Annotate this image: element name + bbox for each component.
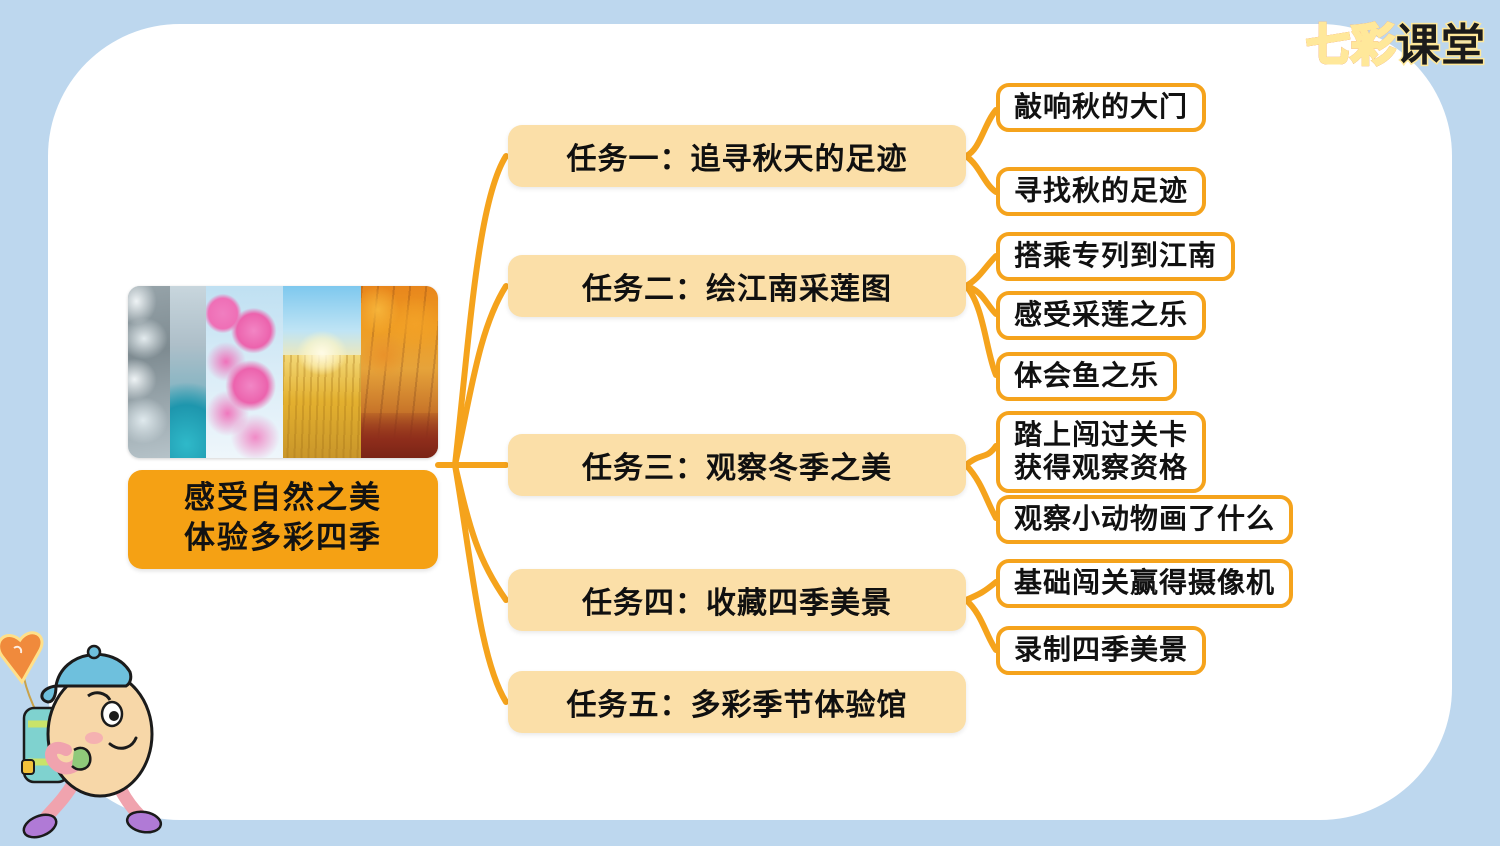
central-label-line-2: 体验多彩四季 [136, 519, 430, 559]
slide-canvas: 七彩课堂 感受自然之美 体验多彩四季 任务一：追寻秋天的足迹 任务二：绘江南采莲… [0, 0, 1500, 844]
task-node-3[interactable]: 任务三：观察冬季之美 [508, 434, 966, 496]
cap-button [88, 646, 100, 658]
season-panel-spring [206, 286, 284, 458]
task-node-4-label: 任务四：收藏四季美景 [582, 578, 892, 622]
task-node-5[interactable]: 任务五：多彩季节体验馆 [508, 671, 966, 733]
logo-text-primary: 七彩 [1306, 20, 1396, 71]
logo-text-secondary: 课堂 [1396, 20, 1486, 71]
leaf-node-3-2[interactable]: 观察小动物画了什么 [996, 495, 1293, 544]
task-node-5-label: 任务五：多彩季节体验馆 [567, 680, 908, 724]
hand [72, 748, 90, 770]
cheek-blush [85, 732, 103, 744]
leaf-node-2-3[interactable]: 体会鱼之乐 [996, 352, 1177, 401]
leaf-node-3-1-label: 踏上闯过关卡 获得观察资格 [1014, 418, 1188, 484]
leaf-node-2-2-label: 感受采莲之乐 [1014, 298, 1188, 331]
season-panel-summer [283, 286, 361, 458]
heart-balloon-icon [0, 633, 42, 682]
backpack-buckle [22, 760, 34, 774]
central-node[interactable]: 感受自然之美 体验多彩四季 [128, 286, 438, 569]
leaf-node-1-1-label: 敲响秋的大门 [1014, 90, 1188, 123]
leaf-node-2-2[interactable]: 感受采莲之乐 [996, 291, 1206, 340]
pupil [109, 711, 119, 721]
task-node-1[interactable]: 任务一：追寻秋天的足迹 [508, 125, 966, 187]
season-panel-winter [128, 286, 206, 458]
leaf-node-4-1[interactable]: 基础闯关赢得摄像机 [996, 559, 1293, 608]
central-label-line-1: 感受自然之美 [136, 479, 430, 519]
cap-brim [42, 686, 56, 702]
leaf-node-3-1[interactable]: 踏上闯过关卡 获得观察资格 [996, 411, 1206, 493]
leaf-node-3-2-label: 观察小动物画了什么 [1014, 502, 1275, 535]
shoe-front [126, 809, 163, 835]
four-seasons-image [128, 286, 438, 458]
central-node-label: 感受自然之美 体验多彩四季 [128, 470, 438, 569]
leaf-node-2-1[interactable]: 搭乘专列到江南 [996, 232, 1235, 281]
task-node-2[interactable]: 任务二：绘江南采莲图 [508, 255, 966, 317]
leaf-node-4-2-label: 录制四季美景 [1014, 633, 1188, 666]
task-node-3-label: 任务三：观察冬季之美 [582, 443, 892, 487]
leaf-node-2-1-label: 搭乘专列到江南 [1014, 239, 1217, 272]
task-node-4[interactable]: 任务四：收藏四季美景 [508, 569, 966, 631]
leaf-node-4-2[interactable]: 录制四季美景 [996, 626, 1206, 675]
season-panel-autumn [361, 286, 439, 458]
leaf-node-4-1-label: 基础闯关赢得摄像机 [1014, 566, 1275, 599]
leaf-node-1-2-label: 寻找秋的足迹 [1014, 174, 1188, 207]
brand-logo: 七彩课堂 [1306, 24, 1486, 68]
leaf-node-2-3-label: 体会鱼之乐 [1014, 359, 1159, 392]
leaf-node-1-2[interactable]: 寻找秋的足迹 [996, 167, 1206, 216]
task-node-2-label: 任务二：绘江南采莲图 [582, 264, 892, 308]
task-node-1-label: 任务一：追寻秋天的足迹 [567, 134, 908, 178]
leaf-node-1-1[interactable]: 敲响秋的大门 [996, 83, 1206, 132]
mascot-egg-character [0, 624, 182, 846]
